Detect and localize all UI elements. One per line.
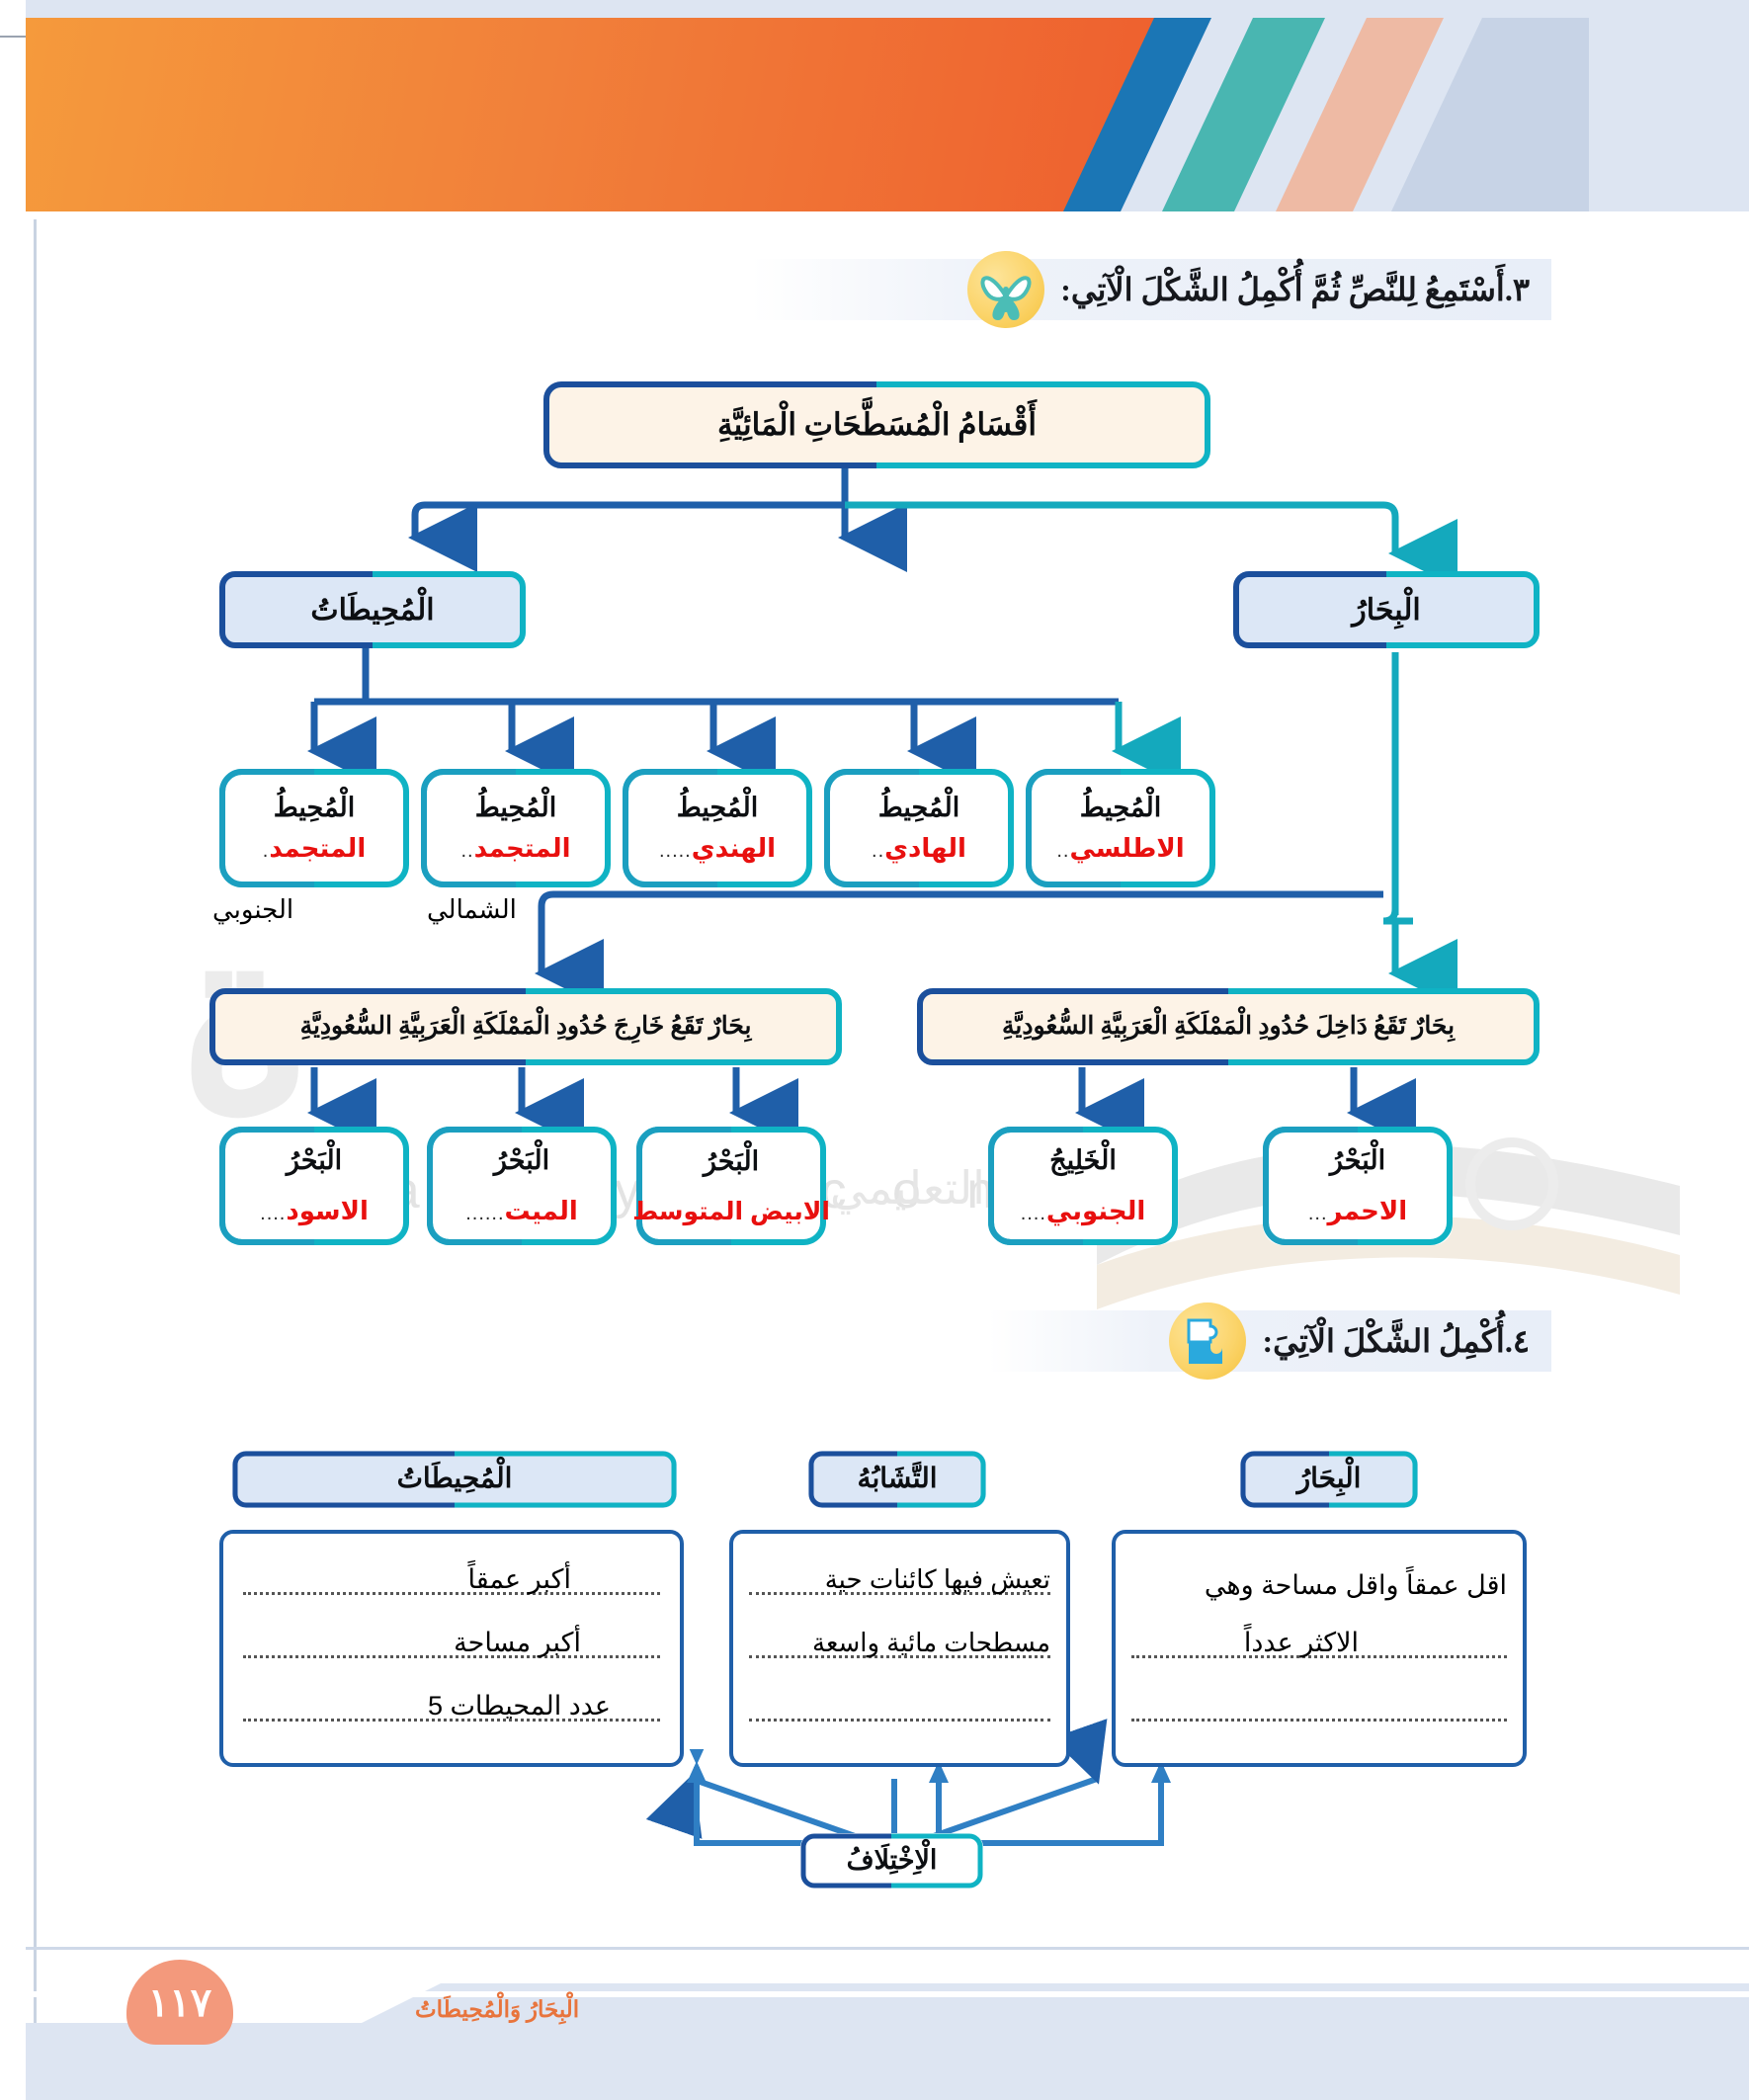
- node-q4-header-seas-label: الْبِحَارُ: [1297, 1465, 1362, 1495]
- node-ocean-1-label: الْمُحِيطُ: [274, 794, 356, 823]
- question-4-row: ٤. أُكْمِلُ الشَّكْلَ الْآتِيَ:: [988, 1310, 1551, 1372]
- node-branch-seas-label: الْبِحَارُ: [1352, 594, 1421, 627]
- node-ocean-5-label: الْمُحِيطُ: [1080, 794, 1162, 823]
- node-sea-outside-1-answer: الاسود: [286, 1198, 368, 1224]
- node-seas-inside: بِحَارٌ تَقَعُ دَاخِلَ حُدُودِ الْمَمْلَ…: [917, 988, 1540, 1065]
- node-q4-difference-label: الْاِخْتِلَافُ: [847, 1846, 938, 1876]
- node-ocean-4-answer: الهادي: [884, 835, 966, 862]
- node-q4-difference: الْاِخْتِلَافُ: [800, 1833, 983, 1889]
- banner-orange-shape: [26, 18, 1162, 211]
- node-sea-outside-3-label: الْبَحْرُ: [704, 1147, 759, 1177]
- node-sea-inside-1-dots: ....: [1021, 1203, 1046, 1225]
- node-root-water-bodies: أَقْسَامُ الْمُسَطَّحَاتِ الْمَائِيَّةِ: [543, 381, 1210, 468]
- question-3-row: ٣. أَسْتَمِعُ لِلنَّصِّ ثُمَّ أُكْمِلُ ا…: [751, 259, 1551, 320]
- node-q4-header-similarity: التَّشَابُهُ: [808, 1451, 986, 1508]
- node-seas-outside: بِحَارٌ تَقَعُ خَارِجَ حُدُودِ الْمَمْلَ…: [209, 988, 842, 1065]
- node-ocean-3-dots: .....: [659, 840, 692, 863]
- node-ocean-5-dots: ..: [1056, 840, 1069, 863]
- node-sea-outside-1-dots: ....: [260, 1203, 286, 1225]
- node-ocean-3: الْمُحِيطُ الهندي .....: [623, 769, 812, 887]
- node-ocean-5-answer: الاطلسي: [1070, 835, 1185, 862]
- footer-divider: [26, 1947, 1749, 1950]
- footer-white-notch: [26, 1991, 1749, 1997]
- node-ocean-1: الْمُحِيطُ المتجمد .: [219, 769, 409, 887]
- node-ocean-4: الْمُحِيطُ الهادي ..: [824, 769, 1014, 887]
- node-q4-header-oceans: الْمُحِيطَاتُ: [232, 1451, 677, 1508]
- q4-oceans-line-1: أكبر عمقاً: [243, 1548, 660, 1611]
- node-ocean-4-label: الْمُحِيطُ: [878, 794, 960, 823]
- node-branch-oceans-label: الْمُحِيطَاتُ: [310, 594, 434, 627]
- node-sea-outside-2-answer: الميت: [505, 1198, 578, 1224]
- node-sea-inside-2-dots: ...: [1308, 1203, 1328, 1225]
- node-sea-inside-1: الْخَلِيجُ الجنوبي ....: [988, 1127, 1178, 1245]
- node-q4-header-oceans-label: الْمُحِيطَاتُ: [397, 1465, 513, 1495]
- node-ocean-2-dots: ..: [460, 840, 473, 863]
- question-4-number: ٤.: [1505, 1322, 1530, 1360]
- panel-q4-seas: اقل عمقاً واقل مساحة وهي الاكثر عدداً: [1112, 1530, 1527, 1767]
- node-sea-outside-1: الْبَحْرُ الاسود ....: [219, 1127, 409, 1245]
- header-banner: [26, 0, 1749, 219]
- puzzle-icon: [1169, 1302, 1246, 1380]
- q4-oceans-line-2: أكبر مساحة: [243, 1611, 660, 1674]
- node-sea-inside-2-label: الْبَحْرُ: [1330, 1146, 1385, 1176]
- butterfly-icon: [967, 251, 1044, 328]
- node-sea-outside-3: الْبَحْرُ الابيض المتوسط: [636, 1127, 826, 1245]
- node-sea-outside-3-answer: الابيض المتوسط: [632, 1199, 830, 1224]
- node-branch-oceans: الْمُحِيطَاتُ: [219, 571, 526, 648]
- node-ocean-1-answer-overflow: الجنوبي: [212, 894, 293, 925]
- node-ocean-5: الْمُحِيطُ الاطلسي ..: [1026, 769, 1215, 887]
- question-3-number: ٣.: [1505, 271, 1530, 308]
- node-q4-header-similarity-label: التَّشَابُهُ: [857, 1465, 937, 1495]
- node-ocean-3-answer: الهندي: [692, 835, 776, 862]
- node-ocean-1-answer: المتجمد: [269, 835, 366, 862]
- question-4-text: أُكْمِلُ الشَّكْلَ الْآتِيَ:: [1262, 1322, 1504, 1360]
- q4-seas-line-1: اقل عمقاً واقل مساحة وهي: [1131, 1548, 1507, 1611]
- node-sea-outside-2-label: الْبَحْرُ: [494, 1146, 549, 1176]
- node-sea-inside-1-label: الْخَلِيجُ: [1049, 1146, 1117, 1176]
- node-ocean-2-answer: المتجمد: [474, 835, 571, 862]
- footer-band: [26, 1983, 1749, 2100]
- q4-similarity-line-1: تعيش فيها كائنات حية: [749, 1548, 1050, 1611]
- q4-seas-line-2: الاكثر عدداً: [1131, 1611, 1507, 1674]
- q4-oceans-line-3: عدد المحيطات 5: [243, 1674, 660, 1737]
- node-ocean-3-label: الْمُحِيطُ: [677, 794, 759, 823]
- node-seas-inside-label: بِحَارٌ تَقَعُ دَاخِلَ حُدُودِ الْمَمْلَ…: [1002, 1013, 1455, 1041]
- node-ocean-2-label: الْمُحِيطُ: [475, 794, 557, 823]
- footer-chapter-title: الْبِحَارُ وَالْمُحِيطَاتُ: [415, 1997, 579, 2023]
- node-q4-header-seas: الْبِحَارُ: [1240, 1451, 1418, 1508]
- node-root-label: أَقْسَامُ الْمُسَطَّحَاتِ الْمَائِيَّةِ: [717, 408, 1037, 442]
- node-seas-outside-label: بِحَارٌ تَقَعُ خَارِجَ حُدُودِ الْمَمْلَ…: [300, 1013, 752, 1041]
- banner-white-gap: [26, 211, 1749, 219]
- node-ocean-2-answer-overflow: الشمالي: [427, 894, 517, 925]
- node-sea-inside-1-answer: الجنوبي: [1046, 1198, 1145, 1224]
- node-sea-outside-2-dots: ......: [465, 1203, 504, 1225]
- page-number-badge: ١١٧: [126, 1960, 233, 2045]
- node-ocean-4-dots: ..: [872, 840, 884, 863]
- node-sea-outside-1-label: الْبَحْرُ: [287, 1146, 342, 1176]
- panel-q4-similarity: تعيش فيها كائنات حية مسطحات مائية واسعة: [729, 1530, 1070, 1767]
- node-ocean-1-dots: .: [263, 840, 270, 863]
- node-branch-seas: الْبِحَارُ: [1233, 571, 1540, 648]
- q4-seas-line-3: [1131, 1674, 1507, 1737]
- question-3-text: أَسْتَمِعُ لِلنَّصِّ ثُمَّ أُكْمِلُ الشَ…: [1060, 271, 1505, 308]
- q4-similarity-line-2: مسطحات مائية واسعة: [749, 1611, 1050, 1674]
- node-ocean-2: الْمُحِيطُ المتجمد ..: [421, 769, 611, 887]
- node-sea-inside-2-answer: الاحمر: [1328, 1198, 1408, 1224]
- node-sea-inside-2: الْبَحْرُ الاحمر ...: [1263, 1127, 1453, 1245]
- node-sea-outside-2: الْبَحْرُ الميت ......: [427, 1127, 617, 1245]
- panel-q4-oceans: أكبر عمقاً أكبر مساحة عدد المحيطات 5: [219, 1530, 684, 1767]
- q4-similarity-line-3: [749, 1674, 1050, 1737]
- page-left-edge: [34, 0, 37, 2100]
